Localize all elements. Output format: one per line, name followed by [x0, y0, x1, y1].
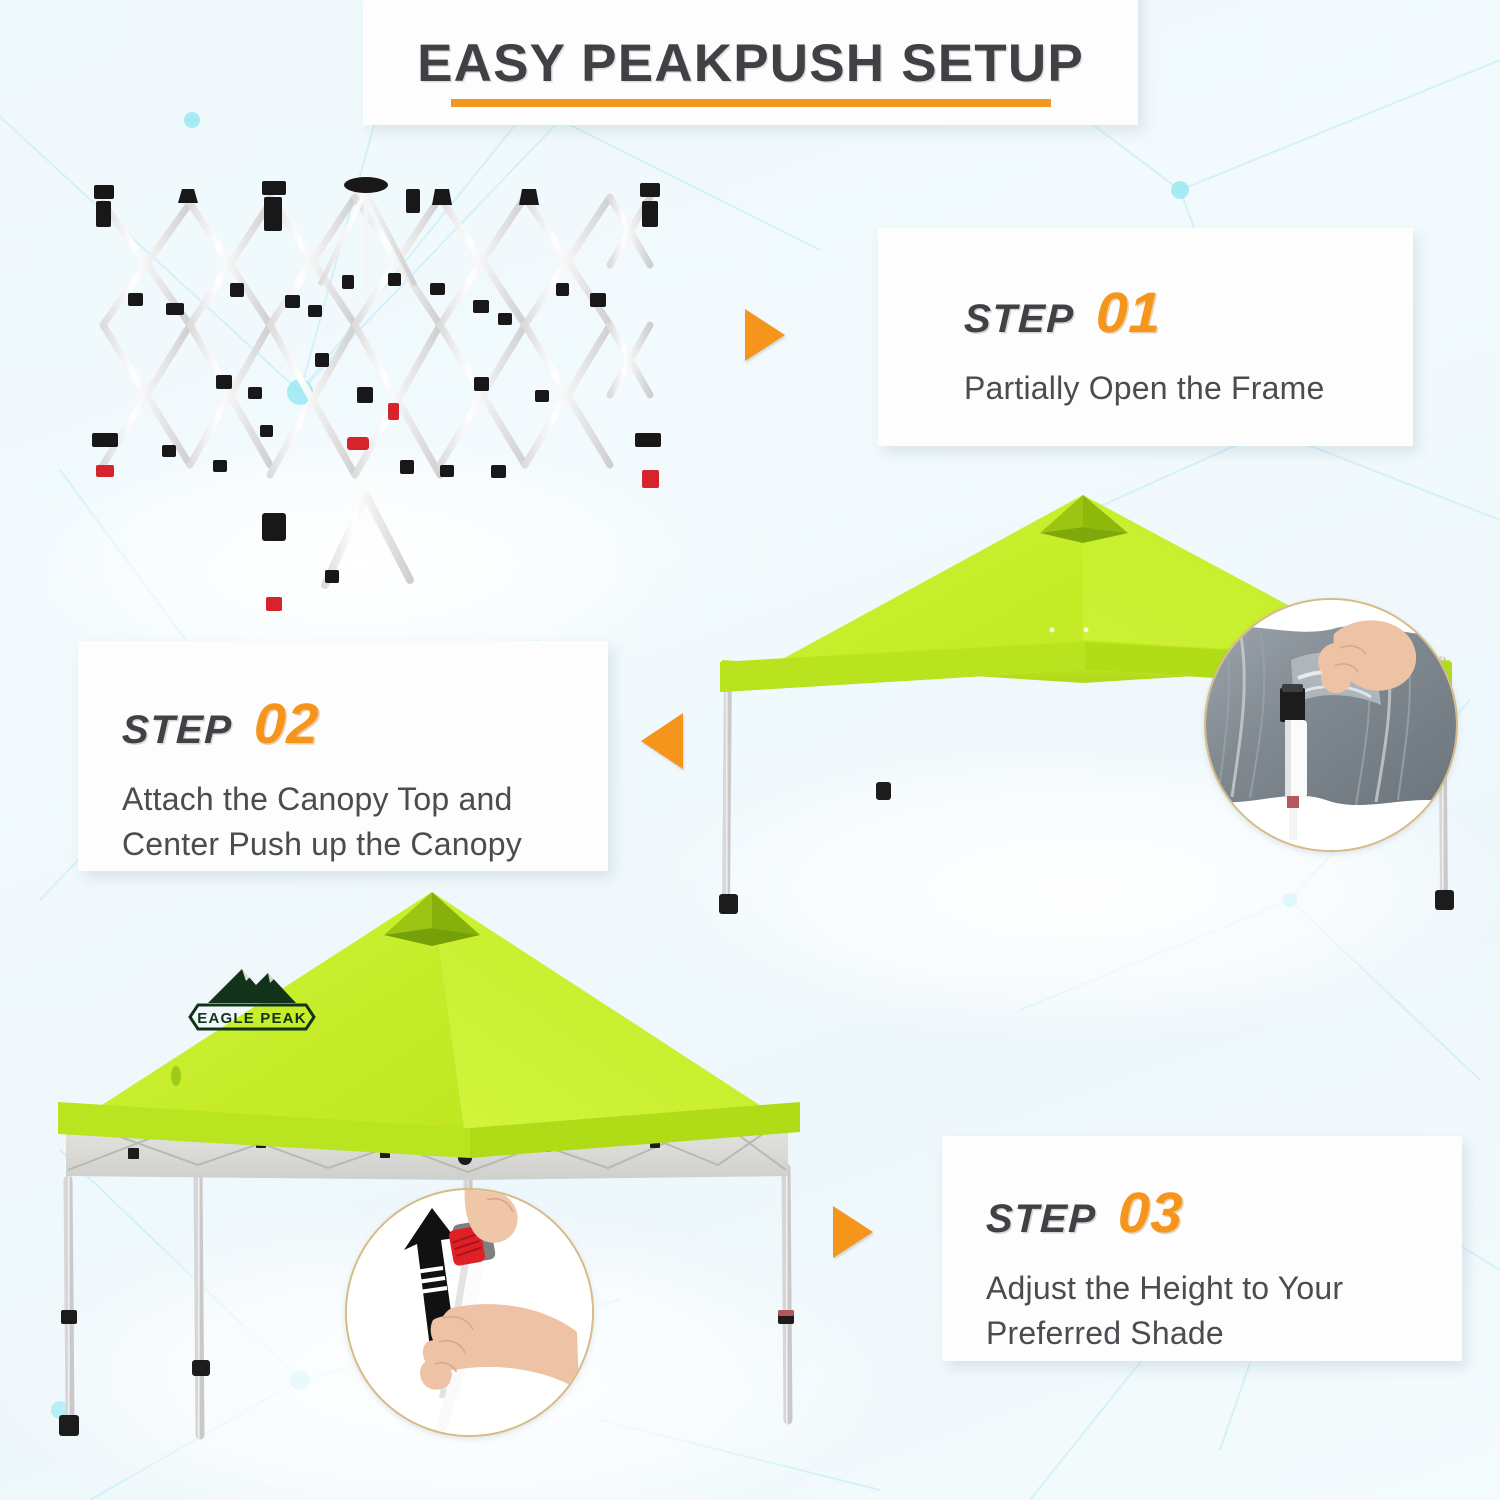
step-card-3: STEP 03 Adjust the Height to Your Prefer…: [942, 1136, 1462, 1361]
step-1-number: 01: [1095, 280, 1163, 346]
step-2-description: Attach the Canopy Top and Center Push up…: [122, 777, 608, 868]
step-3-word: STEP: [985, 1197, 1097, 1242]
step-3-description: Adjust the Height to Your Preferred Shad…: [986, 1266, 1462, 1357]
infographic-page: EASY PEAKPUSH SETUP: [0, 0, 1500, 1500]
step-2-number: 02: [253, 691, 321, 757]
step-3-heading: STEP 03: [986, 1180, 1462, 1246]
arrow-right-icon-step1: [745, 309, 785, 361]
step-2-heading: STEP 02: [122, 691, 608, 757]
step-2-description-line1: Attach the Canopy Top and: [122, 777, 608, 822]
step-card-1: STEP 01 Partially Open the Frame: [878, 228, 1413, 446]
step-3-number: 03: [1117, 1180, 1185, 1246]
arrow-left-icon-step2: [641, 713, 683, 769]
canopy-attach-detail-inset: [1204, 598, 1458, 852]
frame-illustration: [70, 165, 690, 615]
page-title-card: EASY PEAKPUSH SETUP: [363, 0, 1138, 125]
height-adjust-detail-inset: [345, 1188, 594, 1437]
step-3-description-line1: Adjust the Height to Your: [986, 1266, 1462, 1311]
arrow-right-icon-step3: [833, 1206, 873, 1258]
title-underline: [451, 99, 1051, 107]
step-1-description: Partially Open the Frame: [964, 366, 1413, 411]
step-2-word: STEP: [121, 708, 233, 753]
step-1-heading: STEP 01: [964, 280, 1413, 346]
svg-text:EAGLE PEAK: EAGLE PEAK: [197, 1010, 307, 1027]
step-1-word: STEP: [963, 297, 1075, 342]
step-card-2: STEP 02 Attach the Canopy Top and Center…: [78, 641, 608, 871]
step-2-description-line2: Center Push up the Canopy: [122, 822, 608, 867]
step-3-description-line2: Preferred Shade: [986, 1311, 1462, 1356]
page-title: EASY PEAKPUSH SETUP: [417, 37, 1084, 90]
